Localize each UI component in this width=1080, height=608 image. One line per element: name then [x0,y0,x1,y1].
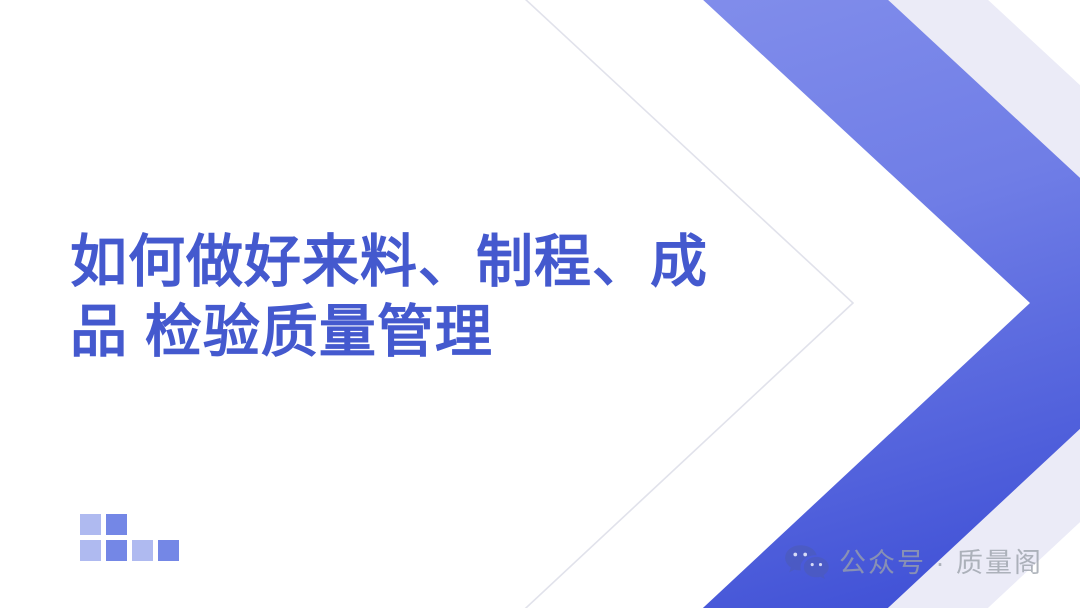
square-r0c1 [106,514,127,535]
decorative-squares [80,514,190,562]
title-line-2: 品 检验质量管理 [70,298,760,368]
title-line-1: 如何做好来料、制程、成 [70,228,760,298]
watermark: 公众号 · 质量阁 [784,543,1043,583]
square-r1c1 [106,540,127,561]
page-title: 如何做好来料、制程、成 品 检验质量管理 [70,228,760,367]
wechat-icon [784,543,830,583]
square-r1c2 [132,540,153,561]
square-r1c3 [158,540,179,561]
square-r0c0 [80,514,101,535]
slide-canvas: 如何做好来料、制程、成 品 检验质量管理 公众号 · 质量阁 [0,0,1080,608]
square-r1c0 [80,540,101,561]
watermark-text: 公众号 · 质量阁 [839,550,1043,577]
